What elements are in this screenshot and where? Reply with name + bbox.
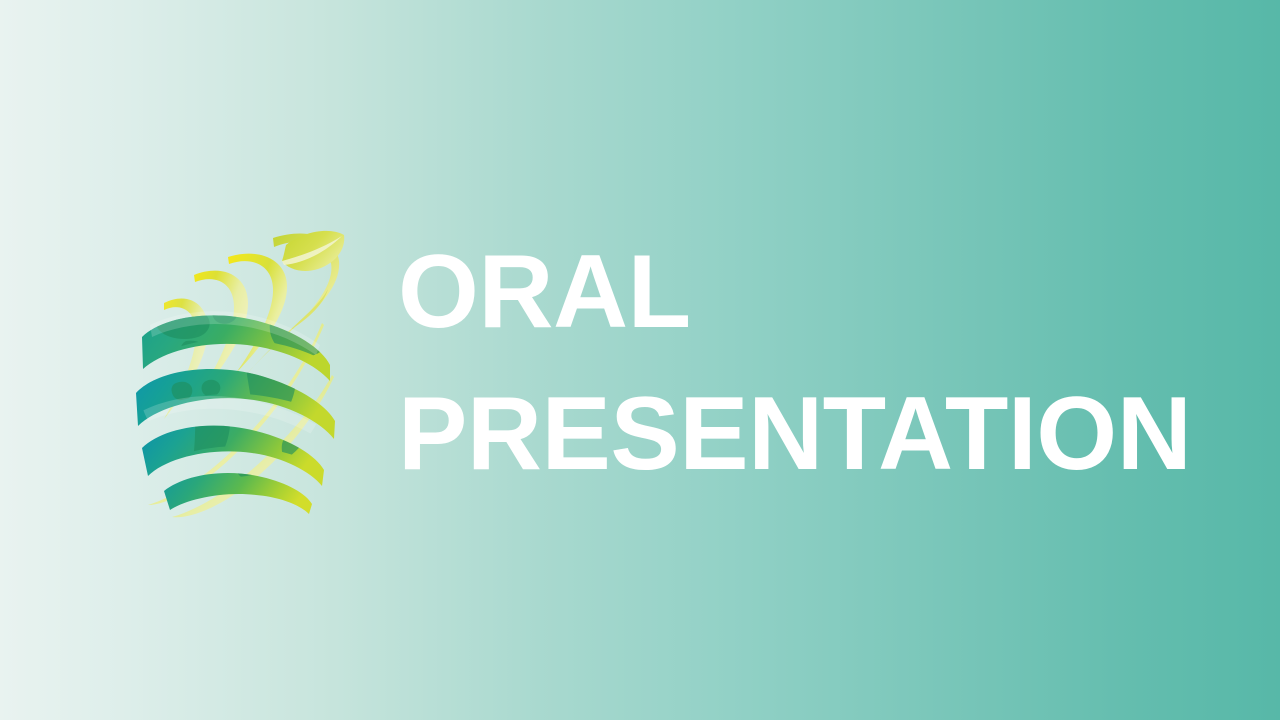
page-title: ORAL PRESENTATION [398, 240, 1218, 486]
globe-ribbon-leaf-logo [90, 205, 390, 520]
presentation-slide: ORAL PRESENTATION [0, 0, 1280, 720]
globe-logo-svg [90, 205, 390, 520]
title-line-oral: ORAL [398, 240, 1218, 344]
title-line-presentation: PRESENTATION [398, 382, 1218, 486]
